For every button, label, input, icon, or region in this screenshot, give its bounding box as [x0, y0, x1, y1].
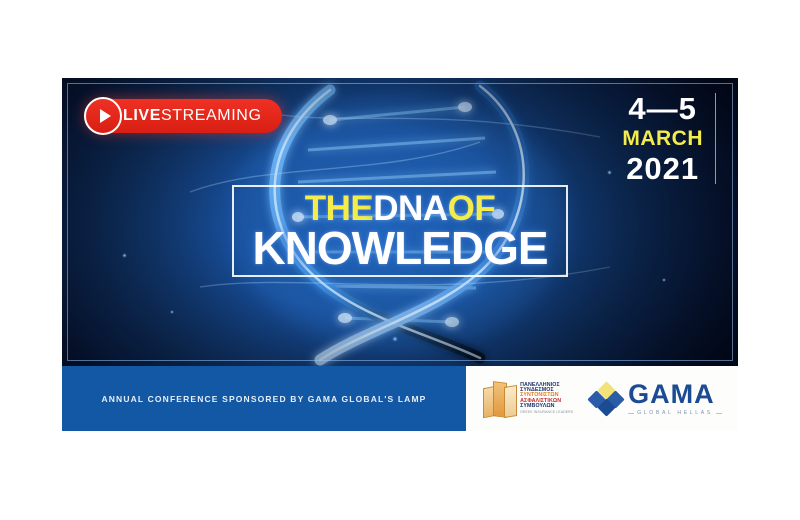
event-date-block: 4—5 MARCH 2021: [622, 93, 716, 184]
event-month: MARCH: [622, 128, 703, 149]
live-streaming-badge[interactable]: LIVE STREAMING: [85, 99, 282, 133]
sponsor-bar: ANNUAL CONFERENCE SPONSORED BY GAMA GLOB…: [62, 366, 466, 431]
event-title-frame: THEDNAOF KNOWLEDGE: [232, 185, 568, 277]
title-row-one: THEDNAOF: [305, 192, 495, 225]
open-books-icon: [482, 379, 516, 419]
event-days: 4—5: [622, 93, 703, 124]
gama-subtitle: GLOBAL HELLAS: [628, 410, 722, 416]
live-label: LIVE: [123, 107, 161, 125]
panhellenic-association-text: ΠΑΝΕΛΛΗΝΙΟΣ ΣΥΝΔΕΣΜΟΣ ΣΥΝΤΟΝΙΣΤΩΝ ΑΣΦΑΛΙ…: [520, 383, 573, 415]
gama-wordmark: GAMA: [628, 381, 722, 408]
assoc-line-5: ΣΥΜΒΟΥΛΩΝ: [520, 404, 573, 409]
event-year: 2021: [622, 153, 703, 184]
title-knowledge: KNOWLEDGE: [252, 227, 547, 271]
play-icon: [84, 97, 122, 135]
conference-banner: LIVE STREAMING 4—5 MARCH 2021 THEDNAOF K…: [62, 78, 738, 431]
sparkle-particle: [122, 253, 127, 258]
hero-section: LIVE STREAMING 4—5 MARCH 2021 THEDNAOF K…: [62, 78, 738, 366]
diamond-cluster-icon: [589, 384, 623, 414]
sponsor-text: ANNUAL CONFERENCE SPONSORED BY GAMA GLOB…: [101, 394, 426, 404]
panhellenic-association-logo: ΠΑΝΕΛΛΗΝΙΟΣ ΣΥΝΔΕΣΜΟΣ ΣΥΝΤΟΝΙΣΤΩΝ ΑΣΦΑΛΙ…: [482, 379, 573, 419]
logo-bar: ΠΑΝΕΛΛΗΝΙΟΣ ΣΥΝΔΕΣΜΟΣ ΣΥΝΤΟΝΙΣΤΩΝ ΑΣΦΑΛΙ…: [466, 366, 738, 431]
assoc-subtitle: GREEK INSURANCE LEADERS: [520, 411, 573, 414]
gama-global-hellas-logo: GAMA GLOBAL HELLAS: [589, 381, 722, 416]
sparkle-particle: [170, 310, 174, 314]
banner-footer: ANNUAL CONFERENCE SPONSORED BY GAMA GLOB…: [62, 366, 738, 431]
gama-wordmark-block: GAMA GLOBAL HELLAS: [628, 381, 722, 416]
sparkle-particle: [662, 278, 666, 282]
streaming-label: STREAMING: [161, 107, 262, 125]
